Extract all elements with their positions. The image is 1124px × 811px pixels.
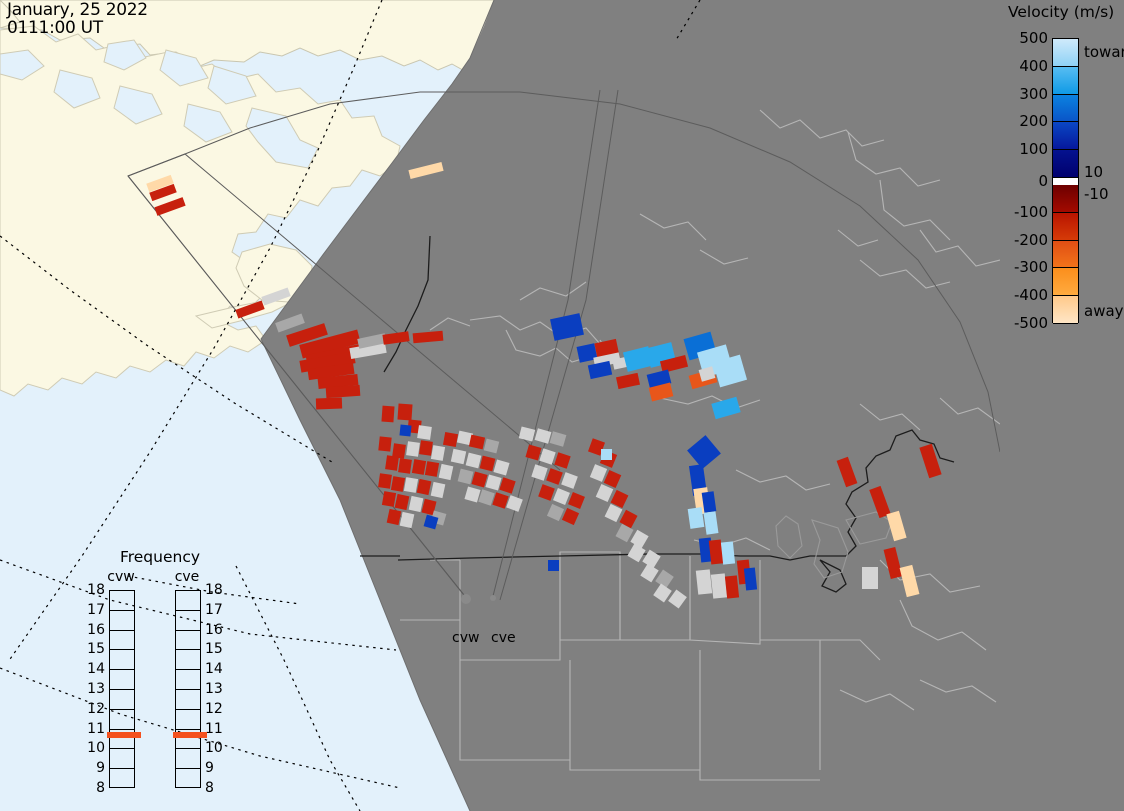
velocity-cell[interactable] [412,459,426,475]
frequency-tick-division [176,710,200,730]
radar-site-marker-cvw[interactable] [461,594,471,604]
frequency-bar-cvw[interactable] [109,590,135,788]
superdarn-velocity-map: cvw cve January, 25 2022 0111:00 UT Freq… [0,0,1124,811]
velocity-cell[interactable] [398,458,412,474]
frequency-legend: Frequency cvw cve 18171615141312111098 1… [85,548,235,793]
frequency-axis-label: 14 [85,661,105,677]
frequency-legend-title: Frequency [85,548,235,566]
colorbar-segment [1053,67,1078,95]
colorbar-zero-gap [1053,178,1078,185]
velocity-cell[interactable] [744,567,757,590]
velocity-cell[interactable] [391,476,405,492]
frequency-axis-label: 13 [205,681,223,697]
frequency-tick-division [110,749,134,769]
frequency-tick-division [176,749,200,769]
frequency-column-label-cve: cve [163,569,211,585]
colorbar-tick-labels: 5004003002001000-100-200-300-400-500 [1000,38,1048,323]
ground-scatter-cell[interactable] [431,445,445,461]
colorbar-segment [1053,296,1078,324]
velocity-cell[interactable] [385,455,399,471]
radar-site-marker-cve[interactable] [490,595,496,601]
frequency-axis-label: 17 [85,602,105,618]
frequency-tick-division [110,710,134,730]
frequency-axis-label: 9 [205,760,214,776]
frequency-tick-division [176,650,200,670]
colorbar-tick: -300 [1014,258,1048,276]
frequency-tick-division [176,591,200,611]
velocity-cell[interactable] [425,461,439,477]
frequency-axis-label: 14 [205,661,223,677]
ground-scatter-cell[interactable] [417,425,432,440]
colorbar-panel: Velocity (m/s) 5004003002001000-100-200-… [1000,0,1124,811]
ground-scatter-cell[interactable] [406,441,420,457]
colorbar-title: Velocity (m/s) [1008,3,1114,21]
frequency-axis-label: 11 [85,721,105,737]
colorbar-segment [1053,185,1078,213]
colorbar-segment [1053,39,1078,67]
velocity-cell[interactable] [382,491,396,507]
title-block: January, 25 2022 0111:00 UT [7,2,148,37]
colorbar-segment [1053,268,1078,296]
frequency-axis-label: 16 [85,622,105,638]
frequency-tick-division [110,690,134,710]
velocity-cell[interactable] [378,473,392,489]
frequency-marker-cvw [107,732,141,738]
frequency-tick-division [110,611,134,631]
ground-scatter-cell[interactable] [451,449,466,464]
colorbar-mid-positive-label: 10 [1084,163,1103,181]
colorbar-toward-label: toward [1084,43,1124,61]
colorbar-tick: 500 [1019,29,1048,47]
velocity-cell[interactable] [721,541,735,564]
frequency-axis-label: 12 [205,701,223,717]
ground-scatter-cell[interactable] [696,569,712,594]
frequency-tick-division [176,631,200,651]
frequency-marker-cve [173,732,207,738]
frequency-tick-division [110,631,134,651]
frequency-axis-label: 10 [85,740,105,756]
colorbar-segment [1053,150,1078,178]
velocity-cell[interactable] [397,404,412,421]
colorbar-tick: -100 [1014,203,1048,221]
colorbar-tick: 300 [1019,85,1048,103]
title-time: 0111:00 UT [7,20,148,38]
velocity-cell[interactable] [399,424,411,436]
velocity-cell[interactable] [316,398,342,410]
velocity-cell[interactable] [381,406,394,423]
velocity-cell[interactable] [443,432,458,447]
frequency-axis-label: 18 [205,582,223,598]
velocity-cell[interactable] [725,575,739,598]
colorbar-tick: -500 [1014,314,1048,332]
ground-scatter-cell[interactable] [404,477,418,493]
colorbar-segment [1053,213,1078,241]
colorbar-segment [1053,241,1078,269]
velocity-cell[interactable] [601,449,612,460]
velocity-cell[interactable] [548,560,559,571]
colorbar-mid-negative-label: -10 [1084,185,1109,203]
colorbar-tick: 400 [1019,57,1048,75]
frequency-axis-label: 9 [85,760,105,776]
velocity-cell[interactable] [688,507,705,529]
frequency-axis-label: 10 [205,740,223,756]
colorbar-tick: 100 [1019,140,1048,158]
velocity-cell[interactable] [419,440,433,456]
colorbar-away-label: away [1084,302,1124,320]
frequency-axis-label: 15 [85,641,105,657]
colorbar-segment [1053,122,1078,150]
colorbar-tick: 200 [1019,112,1048,130]
frequency-axis-label: 8 [85,780,105,796]
frequency-axis-label: 16 [205,622,223,638]
colorbar-tick: -400 [1014,286,1048,304]
frequency-axis-label: 17 [205,602,223,618]
frequency-bar-cve[interactable] [175,590,201,788]
frequency-axis-label: 12 [85,701,105,717]
map-canvas[interactable]: cvw cve January, 25 2022 0111:00 UT Freq… [0,0,1000,811]
frequency-axis-label: 15 [205,641,223,657]
site-label-cve: cve [491,630,516,646]
frequency-axis-label: 11 [205,721,223,737]
site-label-cvw: cvw [452,630,479,646]
frequency-axis-label: 13 [85,681,105,697]
ground-scatter-cell[interactable] [711,573,727,598]
frequency-axis-label: 18 [85,582,105,598]
frequency-tick-division [110,591,134,611]
colorbar-tick: -200 [1014,231,1048,249]
velocity-cell[interactable] [378,436,391,451]
frequency-tick-division [176,670,200,690]
colorbar-tick: 0 [1038,172,1048,190]
frequency-tick-division [176,690,200,710]
frequency-tick-division [110,670,134,690]
frequency-tick-division [110,650,134,670]
frequency-tick-division [176,611,200,631]
colorbar[interactable] [1052,38,1079,323]
colorbar-segment [1053,95,1078,123]
frequency-axis-label: 8 [205,780,214,796]
ground-scatter-cell[interactable] [862,567,878,589]
